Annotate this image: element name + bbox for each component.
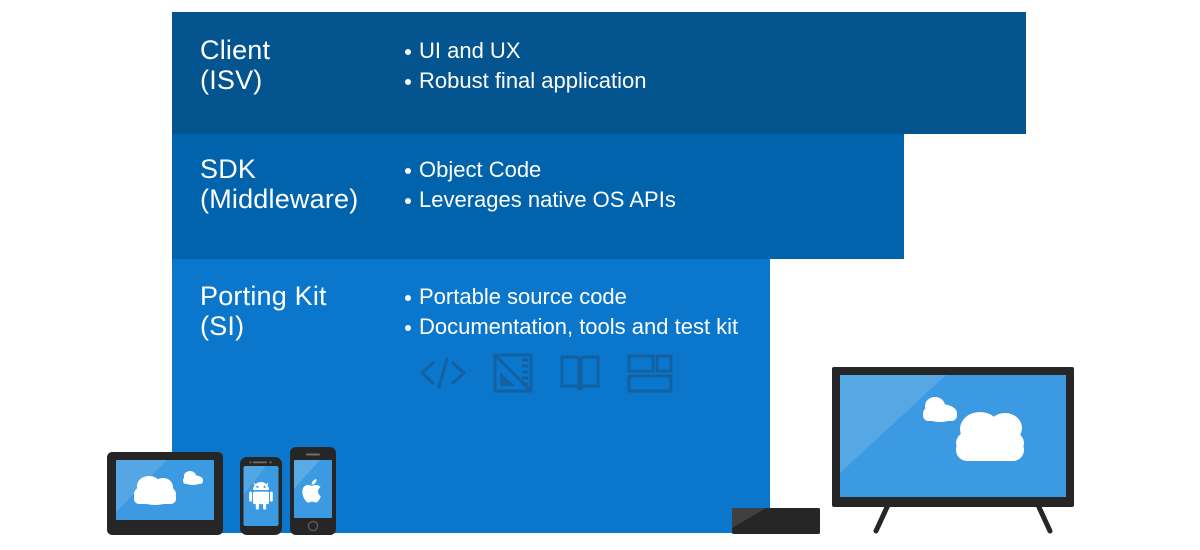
android-phone-device <box>240 457 282 535</box>
layer-label-sdk: SDK (Middleware) <box>200 154 358 214</box>
list-item: Documentation, tools and test kit <box>405 312 738 342</box>
bullet-list-sdk: Object Code Leverages native OS APIs <box>405 155 676 215</box>
diagram-canvas: Client (ISV) SDK (Middleware) Porting Ki… <box>0 0 1200 550</box>
layout-grid-icon <box>626 352 674 394</box>
list-item: Portable source code <box>405 282 738 312</box>
ruler-triangle-icon <box>492 352 534 394</box>
bullet-list-porting-kit: Portable source code Documentation, tool… <box>405 282 738 342</box>
open-book-icon <box>558 352 602 394</box>
iphone-device <box>290 447 336 535</box>
list-item: UI and UX <box>405 36 646 66</box>
list-item: Object Code <box>405 155 676 185</box>
set-top-box-device <box>732 508 820 534</box>
layer-label-client: Client (ISV) <box>200 35 270 95</box>
bullet-list-client: UI and UX Robust final application <box>405 36 646 96</box>
list-item: Leverages native OS APIs <box>405 185 676 215</box>
porting-kit-icon-strip <box>418 352 674 394</box>
layer-label-porting-kit: Porting Kit (SI) <box>200 281 327 341</box>
list-item: Robust final application <box>405 66 646 96</box>
code-brackets-icon <box>418 353 468 393</box>
tablet-device <box>107 452 223 535</box>
television-device <box>830 365 1076 535</box>
